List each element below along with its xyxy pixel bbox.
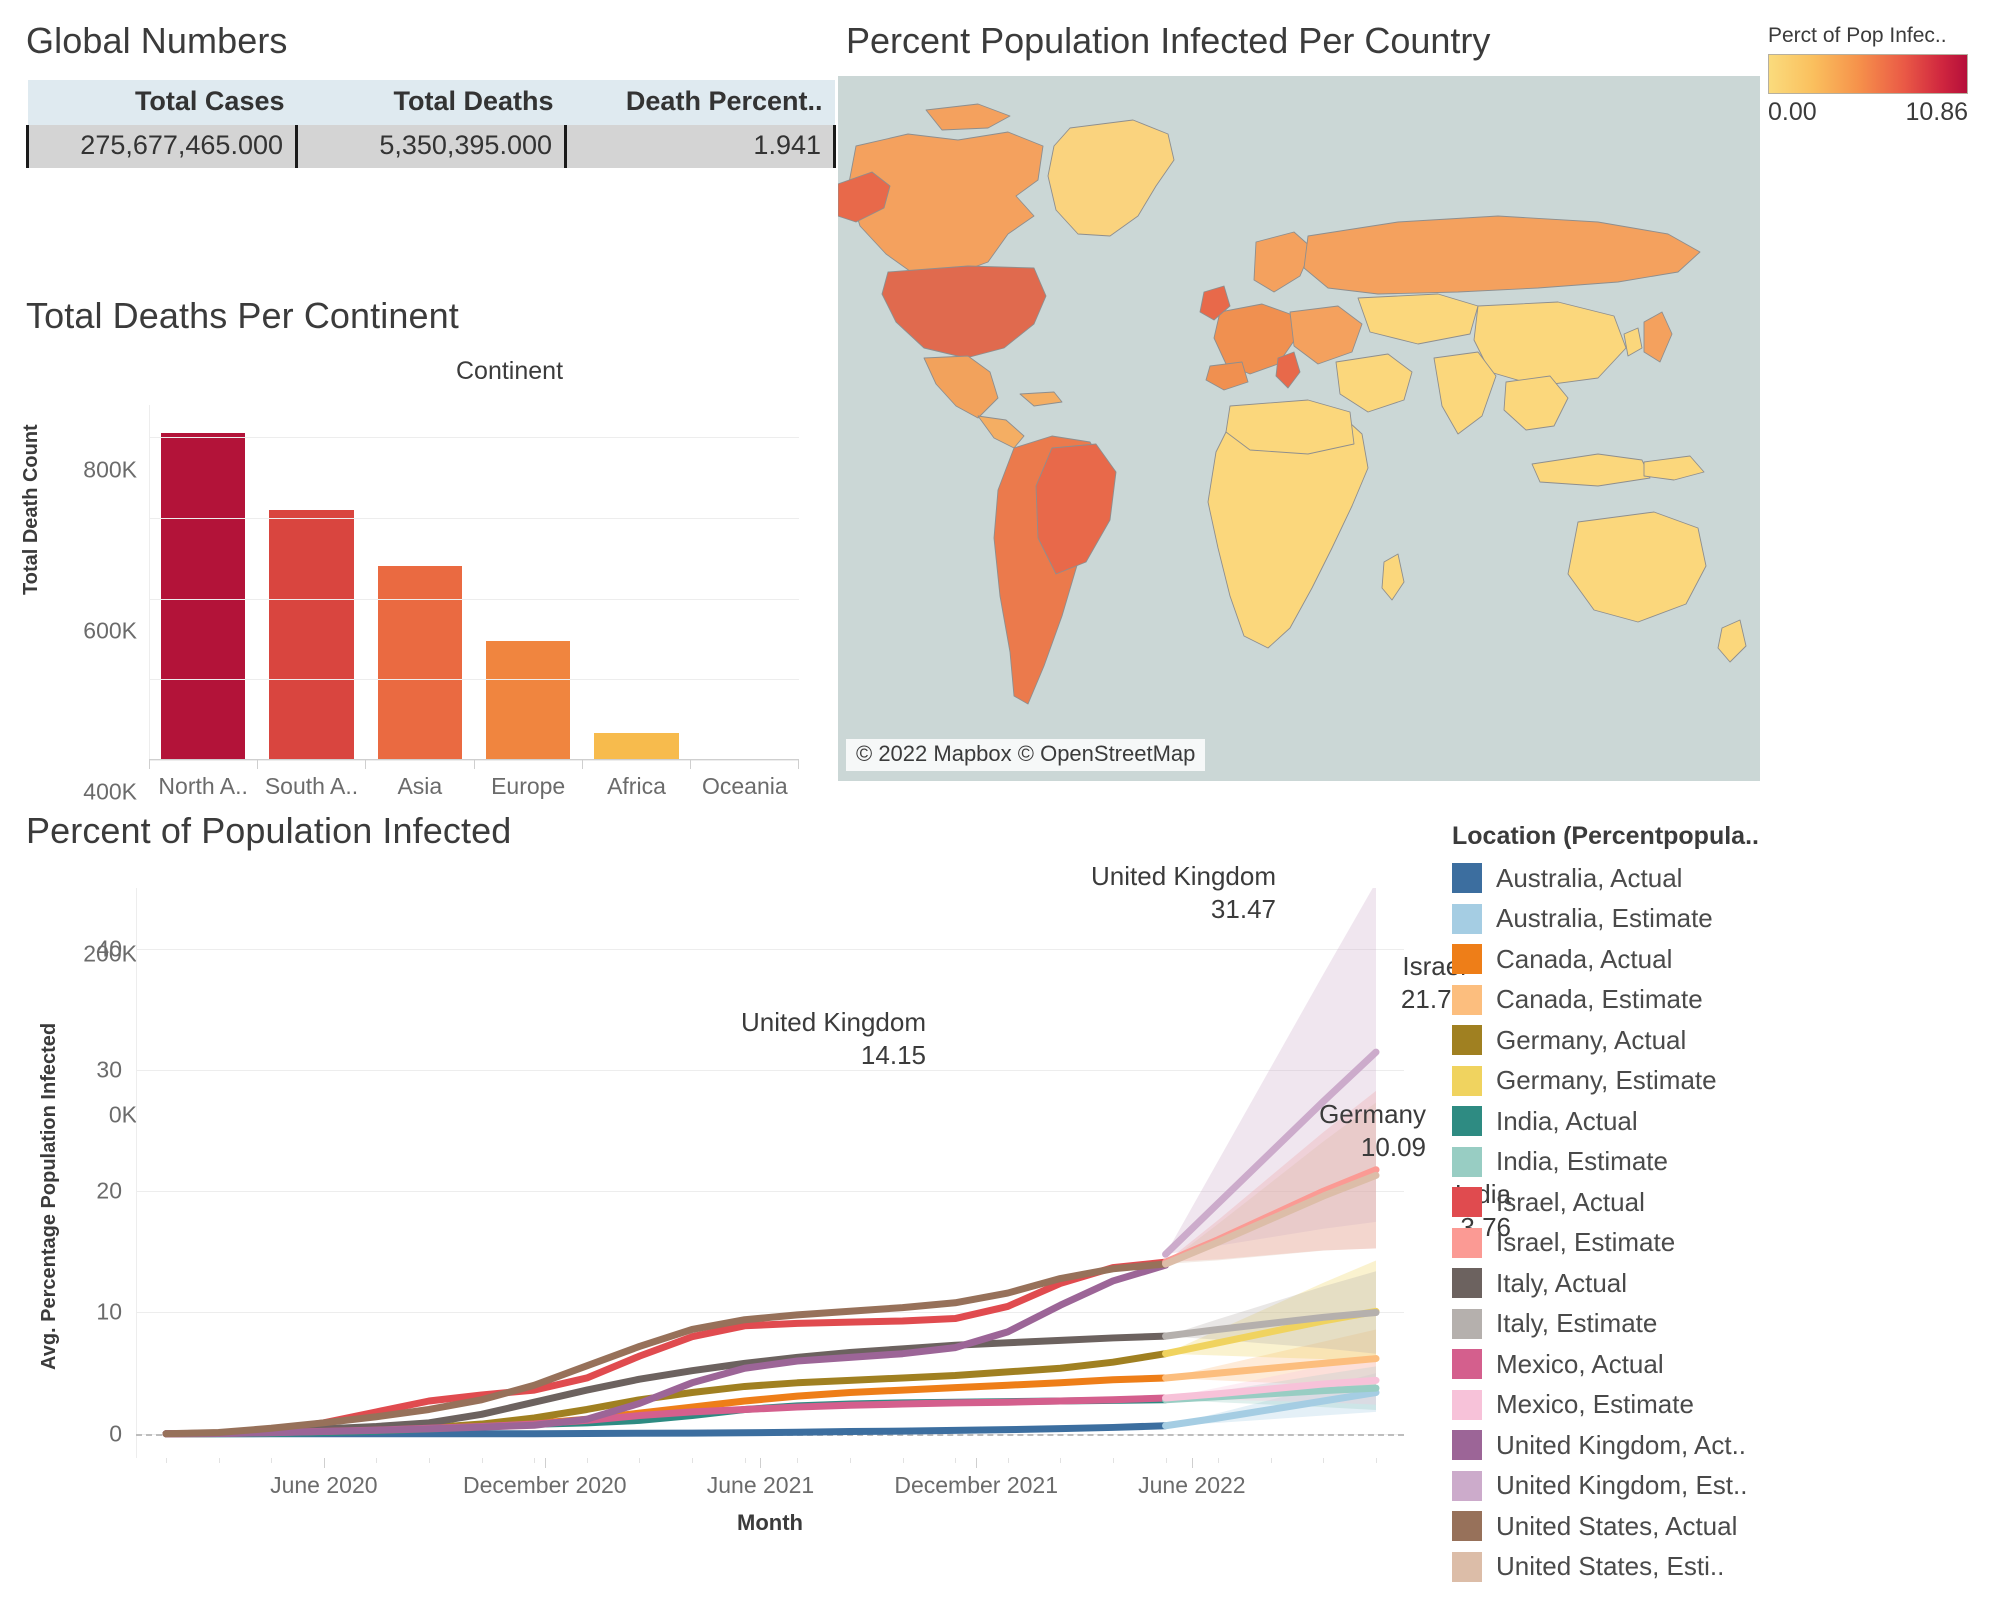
cell-total-cases: 275,677,465.000 — [28, 125, 297, 168]
line-chart-title: Percent of Population Infected — [26, 810, 1426, 852]
country-papua — [1644, 456, 1704, 480]
bar-chart-tick — [690, 760, 799, 769]
line-chart-major-tick — [760, 1458, 761, 1468]
line-chart-minor-tick — [166, 1458, 167, 1463]
legend-item-label: Australia, Actual — [1496, 863, 1682, 894]
legend-item-label: Germany, Actual — [1496, 1025, 1686, 1056]
bar-chart-bar-oceania[interactable] — [691, 405, 799, 760]
bar-chart-tick — [365, 760, 473, 769]
bar-rect[interactable] — [486, 641, 570, 760]
bar-chart-tick — [474, 760, 582, 769]
legend-color-swatch — [1452, 1066, 1482, 1096]
line-chart-minor-tick — [955, 1458, 956, 1463]
country-china — [1474, 302, 1626, 386]
country-brazil — [1036, 444, 1116, 574]
column-header-total-cases: Total Cases — [28, 80, 297, 125]
legend-color-swatch — [1452, 1228, 1482, 1258]
line-chart-minor-tick — [1008, 1458, 1009, 1463]
line-chart-y-tick-label: 40 — [96, 935, 122, 962]
line-chart-x-axis-title: Month — [136, 1510, 1404, 1536]
legend-color-swatch — [1452, 904, 1482, 934]
line-chart-x-tick-label: December 2021 — [894, 1472, 1058, 1499]
line-chart-x-tick-label: December 2020 — [463, 1472, 627, 1499]
bar-chart-x-label: South A.. — [257, 773, 365, 800]
bar-chart-title: Total Deaths Per Continent — [26, 295, 856, 337]
legend-item[interactable]: Italy, Actual — [1452, 1263, 1992, 1304]
line-chart-minor-tick — [639, 1458, 640, 1463]
bar-chart-x-label: North A.. — [149, 773, 257, 800]
bar-chart-legend-title: Continent — [456, 357, 563, 386]
line-chart-annotation: Germany10.09 — [1226, 1098, 1426, 1165]
table-header-row: Total Cases Total Deaths Death Percent.. — [28, 80, 835, 125]
line-chart-minor-tick — [850, 1458, 851, 1463]
legend-item-label: Israel, Actual — [1496, 1187, 1645, 1218]
legend-color-swatch — [1452, 1025, 1482, 1055]
annotation-value: 14.15 — [726, 1039, 926, 1072]
line-chart-minor-tick — [1166, 1458, 1167, 1463]
country-central-america — [978, 416, 1024, 448]
country-united-states — [882, 266, 1046, 358]
map-legend-max: 10.86 — [1905, 98, 1968, 127]
line-chart-svg — [136, 888, 1404, 1458]
bar-rect[interactable] — [269, 510, 353, 760]
bar-chart-y-axis-label: Total Death Count — [20, 424, 43, 595]
legend-item-label: Canada, Estimate — [1496, 984, 1703, 1015]
legend-item-label: United Kingdom, Est.. — [1496, 1470, 1747, 1501]
dashboard: Global Numbers Total Cases Total Deaths … — [0, 0, 1998, 1598]
cell-total-deaths: 5,350,395.000 — [297, 125, 566, 168]
line-chart-minor-tick — [692, 1458, 693, 1463]
legend-item-label: United States, Actual — [1496, 1511, 1737, 1542]
legend-color-swatch — [1452, 1106, 1482, 1136]
bar-chart-tick — [149, 760, 257, 769]
country-scandinavia — [1254, 232, 1312, 292]
bar-chart-y-tick-label: 400K — [83, 779, 137, 806]
country-middle-east — [1336, 354, 1412, 412]
legend-item[interactable]: Israel, Estimate — [1452, 1223, 1992, 1264]
bar-chart-x-label: Oceania — [691, 773, 799, 800]
legend-item[interactable]: Germany, Estimate — [1452, 1061, 1992, 1102]
map-legend-scale: 0.00 10.86 — [1768, 98, 1968, 127]
country-india — [1434, 352, 1496, 434]
choropleth-map[interactable]: © 2022 Mapbox © OpenStreetMap — [838, 76, 1760, 781]
annotation-label: United Kingdom — [1076, 860, 1276, 893]
global-numbers-table: Total Cases Total Deaths Death Percent..… — [26, 80, 836, 168]
line-chart-minor-tick — [534, 1458, 535, 1463]
bar-rect[interactable] — [378, 566, 462, 760]
bar-chart-plot-area: 0K200K400K600K800K — [149, 405, 799, 760]
bar-chart-x-label: Europe — [474, 773, 582, 800]
legend-color-swatch — [1452, 1268, 1482, 1298]
legend-item-label: India, Estimate — [1496, 1146, 1668, 1177]
line-chart-x-tick-label: June 2020 — [270, 1472, 377, 1499]
map-attribution: © 2022 Mapbox © OpenStreetMap — [846, 739, 1205, 771]
country-eastern-europe — [1290, 306, 1362, 364]
country-mexico — [924, 356, 998, 418]
country-new-zealand — [1718, 620, 1746, 662]
line-chart-annotation: United Kingdom14.15 — [726, 1006, 926, 1073]
line-chart-minor-tick — [1323, 1458, 1324, 1463]
legend-item[interactable]: Germany, Actual — [1452, 1020, 1992, 1061]
annotation-value: 10.09 — [1226, 1131, 1426, 1164]
column-header-death-percent: Death Percent.. — [566, 80, 835, 125]
map-legend-min: 0.00 — [1768, 98, 1817, 127]
legend-item[interactable]: United Kingdom, Est.. — [1452, 1466, 1992, 1507]
country-southeast-asia — [1504, 376, 1568, 430]
legend-color-swatch — [1452, 1309, 1482, 1339]
bar-chart-bar-asia[interactable] — [366, 405, 474, 760]
country-italy — [1276, 352, 1300, 388]
map-panel: Percent Population Infected Per Country — [838, 20, 1760, 781]
legend-item[interactable]: Canada, Actual — [1452, 939, 1992, 980]
line-chart-minor-tick — [271, 1458, 272, 1463]
country-spain — [1206, 362, 1248, 390]
table-row: 275,677,465.000 5,350,395.000 1.941 — [28, 125, 835, 168]
global-numbers-title: Global Numbers — [26, 20, 846, 62]
line-chart-y-tick-label: 30 — [96, 1056, 122, 1083]
bar-chart-x-label: Asia — [366, 773, 474, 800]
line-chart-y-axis-label: Avg. Percentage Population Infected — [38, 1023, 61, 1370]
line-chart-major-tick — [976, 1458, 977, 1468]
percent-population-infected-panel: Percent of Population Infected Avg. Perc… — [26, 810, 1426, 1590]
country-korea — [1624, 328, 1642, 356]
line-chart-y-tick-label: 10 — [96, 1299, 122, 1326]
world-map-svg — [838, 76, 1760, 781]
legend-color-swatch — [1452, 1349, 1482, 1379]
legend-color-swatch — [1452, 1430, 1482, 1460]
line-chart-minor-tick — [587, 1458, 588, 1463]
legend-item-label: India, Actual — [1496, 1106, 1638, 1137]
legend-color-swatch — [1452, 1390, 1482, 1420]
legend-color-swatch — [1452, 1471, 1482, 1501]
line-chart-minor-tick — [745, 1458, 746, 1463]
line-chart-minor-tick — [376, 1458, 377, 1463]
legend-item[interactable]: Australia, Actual — [1452, 858, 1992, 899]
legend-item[interactable]: India, Actual — [1452, 1101, 1992, 1142]
country-indonesia — [1532, 454, 1650, 486]
legend-color-swatch — [1452, 863, 1482, 893]
legend-item-label: Canada, Actual — [1496, 944, 1672, 975]
country-madagascar — [1382, 554, 1404, 600]
line-chart-minor-tick — [1218, 1458, 1219, 1463]
line-chart-major-tick — [1192, 1458, 1193, 1468]
legend-color-swatch — [1452, 985, 1482, 1015]
country-north-africa — [1226, 400, 1354, 454]
cell-death-percent: 1.941 — [566, 125, 835, 168]
bar-chart-gridline: 800K — [149, 437, 799, 438]
bar-chart-tick — [582, 760, 690, 769]
legend-item[interactable]: India, Estimate — [1452, 1142, 1992, 1183]
legend-item[interactable]: Italy, Estimate — [1452, 1304, 1992, 1345]
line-chart-minor-tick — [429, 1458, 430, 1463]
line-chart-x-tick-label: June 2022 — [1138, 1472, 1245, 1499]
bar-chart-x-axis-labels: North A..South A..AsiaEuropeAfricaOceani… — [149, 773, 799, 800]
line-chart-plot-area: 010203040United Kingdom14.15United Kingd… — [136, 888, 1404, 1458]
legend-item-label: United States, Esti.. — [1496, 1551, 1724, 1582]
legend-item-label: United Kingdom, Act.. — [1496, 1430, 1746, 1461]
line-chart-x-tickmarks — [136, 1458, 1404, 1468]
line-chart-minor-tick — [903, 1458, 904, 1463]
annotation-label: Israel — [1266, 950, 1466, 983]
line-chart-major-tick — [324, 1458, 325, 1468]
bar-chart-bar-africa[interactable] — [582, 405, 690, 760]
annotation-label: United Kingdom — [726, 1006, 926, 1039]
line-chart-annotation: Israel21.77 — [1266, 950, 1466, 1017]
legend-item[interactable]: Israel, Actual — [1452, 1182, 1992, 1223]
country-greenland — [1048, 120, 1174, 236]
legend-color-swatch — [1452, 1511, 1482, 1541]
bar-chart-bar-southa[interactable] — [257, 405, 365, 760]
legend-item[interactable]: United States, Esti.. — [1452, 1547, 1992, 1588]
bar-chart-bars — [149, 405, 799, 760]
line-chart-minor-tick — [1060, 1458, 1061, 1463]
legend-item-label: Italy, Actual — [1496, 1268, 1627, 1299]
bar-chart-x-label: Africa — [582, 773, 690, 800]
legend-color-swatch — [1452, 944, 1482, 974]
legend-item[interactable]: Mexico, Estimate — [1452, 1385, 1992, 1426]
bar-chart-bar-northa[interactable] — [149, 405, 257, 760]
line-chart-x-tick-label: June 2021 — [707, 1472, 814, 1499]
bar-chart-gridline: 600K — [149, 518, 799, 519]
map-color-legend: Perct of Pop Infec.. 0.00 10.86 — [1768, 24, 1990, 127]
legend-item-label: Mexico, Estimate — [1496, 1389, 1694, 1420]
legend-item-label: Israel, Estimate — [1496, 1227, 1675, 1258]
bar-rect[interactable] — [161, 433, 245, 760]
bar-chart-gridline: 400K — [149, 599, 799, 600]
legend-item-label: Mexico, Actual — [1496, 1349, 1664, 1380]
legend-item-label: Australia, Estimate — [1496, 903, 1713, 934]
line-chart-minor-tick — [219, 1458, 220, 1463]
bar-chart-y-tick-label: 800K — [83, 456, 137, 483]
legend-item-label: Germany, Estimate — [1496, 1065, 1717, 1096]
annotation-value: 31.47 — [1076, 893, 1276, 926]
line-legend-items: Australia, ActualAustralia, EstimateCana… — [1452, 858, 1992, 1587]
line-chart-y-tick-label: 0 — [109, 1420, 122, 1447]
annotation-label: Germany — [1226, 1098, 1426, 1131]
country-central-asia — [1358, 294, 1478, 344]
line-chart-minor-tick — [482, 1458, 483, 1463]
country-russia — [1304, 216, 1700, 294]
bar-chart-y-tick-label: 600K — [83, 617, 137, 644]
bar-rect[interactable] — [594, 733, 678, 760]
country-canada-islands — [926, 104, 1010, 130]
legend-item[interactable]: United States, Actual — [1452, 1506, 1992, 1547]
line-chart-annotation: United Kingdom31.47 — [1076, 860, 1276, 927]
line-chart-minor-tick — [1113, 1458, 1114, 1463]
line-chart-minor-tick — [1271, 1458, 1272, 1463]
legend-item[interactable]: Australia, Estimate — [1452, 899, 1992, 940]
legend-item[interactable]: Canada, Estimate — [1452, 980, 1992, 1021]
bar-chart-tick — [257, 760, 365, 769]
global-numbers-panel: Global Numbers Total Cases Total Deaths … — [26, 20, 846, 168]
annotation-value: 21.77 — [1266, 983, 1466, 1016]
map-legend-gradient — [1768, 54, 1968, 94]
line-chart-minor-tick — [797, 1458, 798, 1463]
line-chart-minor-tick — [1376, 1458, 1377, 1463]
line-legend-title: Location (Percentpopula.. — [1452, 822, 1992, 851]
column-header-total-deaths: Total Deaths — [297, 80, 566, 125]
map-legend-title: Perct of Pop Infec.. — [1768, 24, 1990, 48]
country-caribbean — [1020, 392, 1062, 406]
country-japan — [1644, 312, 1672, 362]
line-chart-y-tick-label: 20 — [96, 1178, 122, 1205]
total-deaths-per-continent-panel: Total Deaths Per Continent Continent Tot… — [26, 295, 856, 795]
legend-item-label: Italy, Estimate — [1496, 1308, 1657, 1339]
line-chart-legend: Location (Percentpopula.. Australia, Act… — [1452, 822, 1992, 1587]
legend-color-swatch — [1452, 1552, 1482, 1582]
legend-item[interactable]: Mexico, Actual — [1452, 1344, 1992, 1385]
legend-item[interactable]: United Kingdom, Act.. — [1452, 1425, 1992, 1466]
country-australia — [1568, 512, 1706, 622]
legend-color-swatch — [1452, 1187, 1482, 1217]
map-title: Percent Population Infected Per Country — [846, 20, 1760, 62]
bar-chart-tickmarks — [149, 760, 799, 769]
bar-chart-gridline: 200K — [149, 679, 799, 680]
line-chart-major-tick — [545, 1458, 546, 1468]
bar-chart-bar-europe[interactable] — [474, 405, 582, 760]
legend-color-swatch — [1452, 1147, 1482, 1177]
